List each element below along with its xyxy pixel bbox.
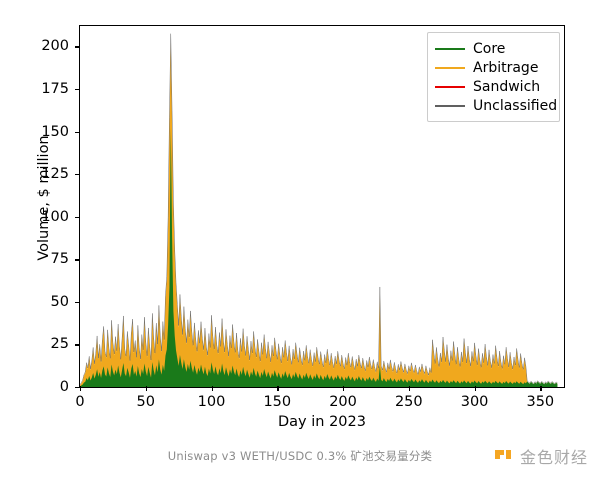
x-tick-mark: [80, 386, 81, 391]
x-tick-mark: [277, 386, 278, 391]
legend-label-core: Core: [473, 42, 505, 56]
jinse-logo-icon: [493, 448, 513, 468]
legend-swatch-unclassified: [435, 105, 465, 107]
y-tick-mark: [75, 174, 80, 175]
legend-item-unclassified[interactable]: Unclassified: [435, 96, 552, 115]
x-tick-label: 350: [510, 395, 570, 410]
y-tick-label: 25: [13, 337, 69, 352]
y-tick-mark: [75, 89, 80, 90]
x-tick-mark: [146, 386, 147, 391]
chart-legend: Core Arbitrage Sandwich Unclassified: [427, 32, 560, 122]
x-tick-mark: [212, 386, 213, 391]
legend-label-sandwich: Sandwich: [473, 80, 540, 94]
watermark-text: 金色财经: [520, 450, 588, 466]
y-tick-mark: [75, 217, 80, 218]
legend-item-arbitrage[interactable]: Arbitrage: [435, 58, 552, 77]
y-tick-label: 0: [13, 380, 69, 395]
y-tick-mark: [75, 302, 80, 303]
y-tick-mark: [75, 344, 80, 345]
x-tick-label: 50: [116, 395, 176, 410]
legend-swatch-arbitrage: [435, 67, 465, 69]
watermark: 金色财经: [493, 448, 588, 468]
y-tick-mark: [75, 387, 80, 388]
x-tick-label: 150: [247, 395, 307, 410]
legend-item-core[interactable]: Core: [435, 39, 552, 58]
chart-figure: 0255075100125150175200 05010015020025030…: [0, 0, 600, 480]
x-tick-label: 100: [182, 395, 242, 410]
legend-item-sandwich[interactable]: Sandwich: [435, 77, 552, 96]
legend-swatch-sandwich: [435, 86, 465, 88]
y-tick-mark: [75, 46, 80, 47]
x-axis-label: Day in 2023: [79, 414, 565, 430]
x-tick-label: 250: [379, 395, 439, 410]
y-tick-mark: [75, 259, 80, 260]
x-tick-label: 300: [445, 395, 505, 410]
y-axis-label: Volume, $ million: [36, 78, 52, 318]
x-tick-mark: [475, 386, 476, 391]
legend-label-unclassified: Unclassified: [473, 99, 557, 113]
legend-swatch-core: [435, 48, 465, 50]
y-tick-label: 200: [13, 39, 69, 54]
x-tick-label: 0: [50, 395, 110, 410]
x-tick-label: 200: [313, 395, 373, 410]
legend-label-arbitrage: Arbitrage: [473, 61, 538, 75]
y-tick-mark: [75, 132, 80, 133]
x-tick-mark: [409, 386, 410, 391]
x-tick-mark: [343, 386, 344, 391]
x-tick-mark: [540, 386, 541, 391]
